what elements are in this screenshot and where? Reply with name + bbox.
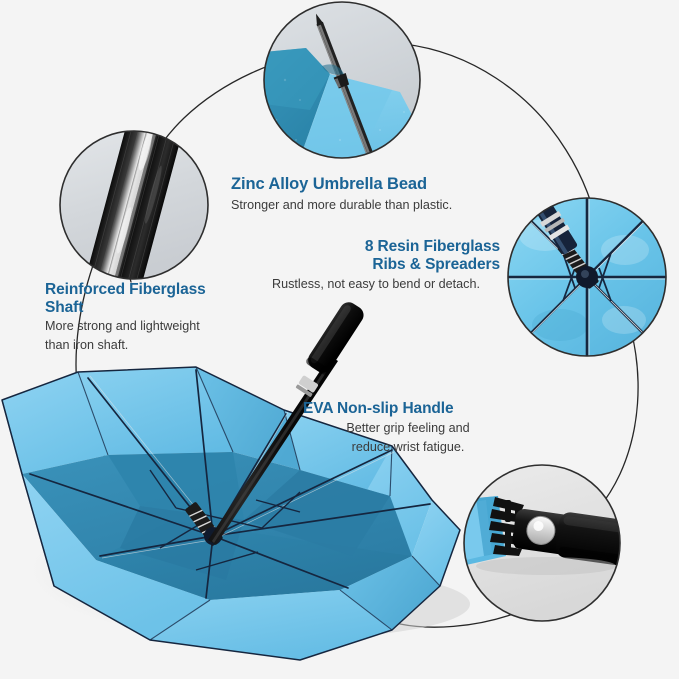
callout-heading-shaft-line1: Reinforced Fiberglass <box>45 281 260 299</box>
callout-heading-ribs-line2: Ribs & Spreaders <box>252 256 500 274</box>
callout-heading-bead: Zinc Alloy Umbrella Bead <box>231 175 501 194</box>
callout-heading-handle: EVA Non-slip Handle <box>303 400 513 418</box>
callout-subtext-ribs: Rustless, not easy to bend or detach. <box>252 276 500 292</box>
inset-target-umbrella-bead <box>264 2 420 158</box>
callout-resin-fiberglass-ribs: 8 Resin Fiberglass Ribs & Spreaders Rust… <box>252 238 500 292</box>
callout-subtext-shaft-line1: More strong and lightweight <box>45 319 260 335</box>
callout-heading-shaft-line2: Shaft <box>45 299 260 317</box>
callout-reinforced-fiberglass-shaft: Reinforced Fiberglass Shaft More strong … <box>45 281 260 353</box>
callout-subtext-shaft-line2: than iron shaft. <box>45 338 260 354</box>
callout-heading-ribs-line1: 8 Resin Fiberglass <box>252 238 500 256</box>
callout-zinc-alloy-umbrella-bead: Zinc Alloy Umbrella Bead Stronger and mo… <box>231 175 501 213</box>
callout-subtext-bead: Stronger and more durable than plastic. <box>231 197 501 213</box>
inset-target-eva-handle <box>464 465 620 621</box>
infographic-canvas: Zinc Alloy Umbrella Bead Stronger and mo… <box>0 0 679 679</box>
callout-eva-non-slip-handle: EVA Non-slip Handle Better grip feeling … <box>303 400 513 455</box>
callout-subtext-handle-line1: Better grip feeling and <box>303 421 513 437</box>
callout-subtext-handle-line2: reduce wrist fatigue. <box>303 440 513 456</box>
inset-target-fiberglass-shaft <box>60 131 208 279</box>
inset-target-ribs-spreaders <box>508 198 666 356</box>
